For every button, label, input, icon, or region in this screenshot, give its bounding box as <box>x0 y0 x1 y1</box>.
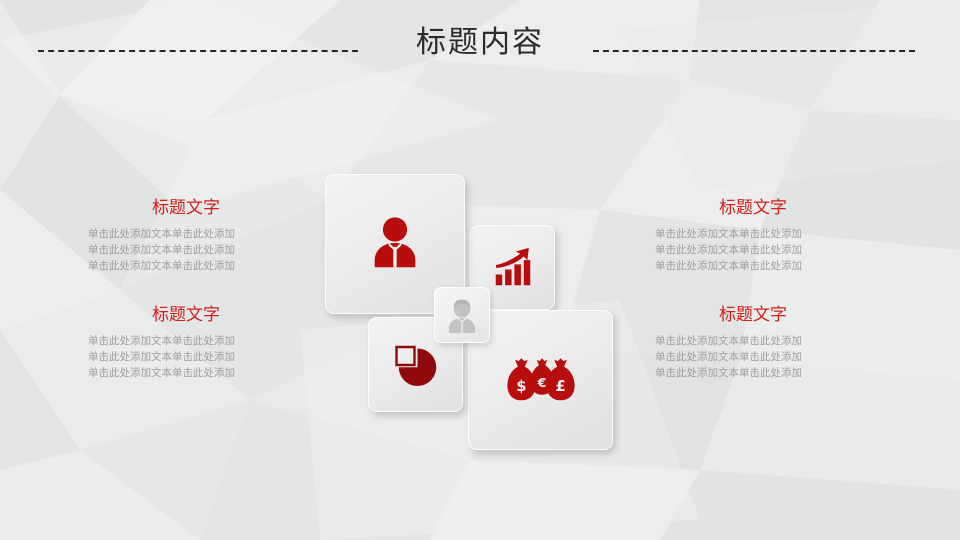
growth-bar-chart-icon <box>490 245 536 291</box>
text-block-left-bottom[interactable]: 标题文字 单击此处添加文本单击此处添加 单击此处添加文本单击此处添加 单击此处添… <box>88 305 284 382</box>
block-line: 单击此处添加文本单击此处添加 <box>655 243 851 259</box>
block-heading: 标题文字 <box>655 305 851 325</box>
businessman-icon <box>364 213 426 275</box>
block-heading: 标题文字 <box>88 198 284 218</box>
svg-text:€: € <box>536 375 546 390</box>
svg-text:$: $ <box>516 378 526 395</box>
block-line: 单击此处添加文本单击此处添加 <box>655 366 851 382</box>
money-bags-icon: $ € £ <box>506 354 576 406</box>
pie-chart-icon <box>392 341 440 389</box>
block-line: 单击此处添加文本单击此处添加 <box>655 334 851 350</box>
user-avatar-icon <box>443 296 481 334</box>
title-band: 标题内容 <box>0 0 960 86</box>
svg-text:£: £ <box>555 378 565 395</box>
block-line: 单击此处添加文本单击此处添加 <box>88 366 284 382</box>
block-line: 单击此处添加文本单击此处添加 <box>655 259 851 275</box>
block-heading: 标题文字 <box>655 198 851 218</box>
card-user-avatar[interactable] <box>434 287 490 343</box>
block-line: 单击此处添加文本单击此处添加 <box>88 259 284 275</box>
text-block-left-top[interactable]: 标题文字 单击此处添加文本单击此处添加 单击此处添加文本单击此处添加 单击此处添… <box>88 198 284 275</box>
block-line: 单击此处添加文本单击此处添加 <box>655 350 851 366</box>
block-line: 单击此处添加文本单击此处添加 <box>88 350 284 366</box>
block-heading: 标题文字 <box>88 305 284 325</box>
block-line: 单击此处添加文本单击此处添加 <box>88 227 284 243</box>
block-line: 单击此处添加文本单击此处添加 <box>88 334 284 350</box>
text-block-right-bottom[interactable]: 标题文字 单击此处添加文本单击此处添加 单击此处添加文本单击此处添加 单击此处添… <box>655 305 851 382</box>
block-line: 单击此处添加文本单击此处添加 <box>655 227 851 243</box>
page-title: 标题内容 <box>416 28 544 58</box>
text-block-right-top[interactable]: 标题文字 单击此处添加文本单击此处添加 单击此处添加文本单击此处添加 单击此处添… <box>655 198 851 275</box>
block-line: 单击此处添加文本单击此处添加 <box>88 243 284 259</box>
